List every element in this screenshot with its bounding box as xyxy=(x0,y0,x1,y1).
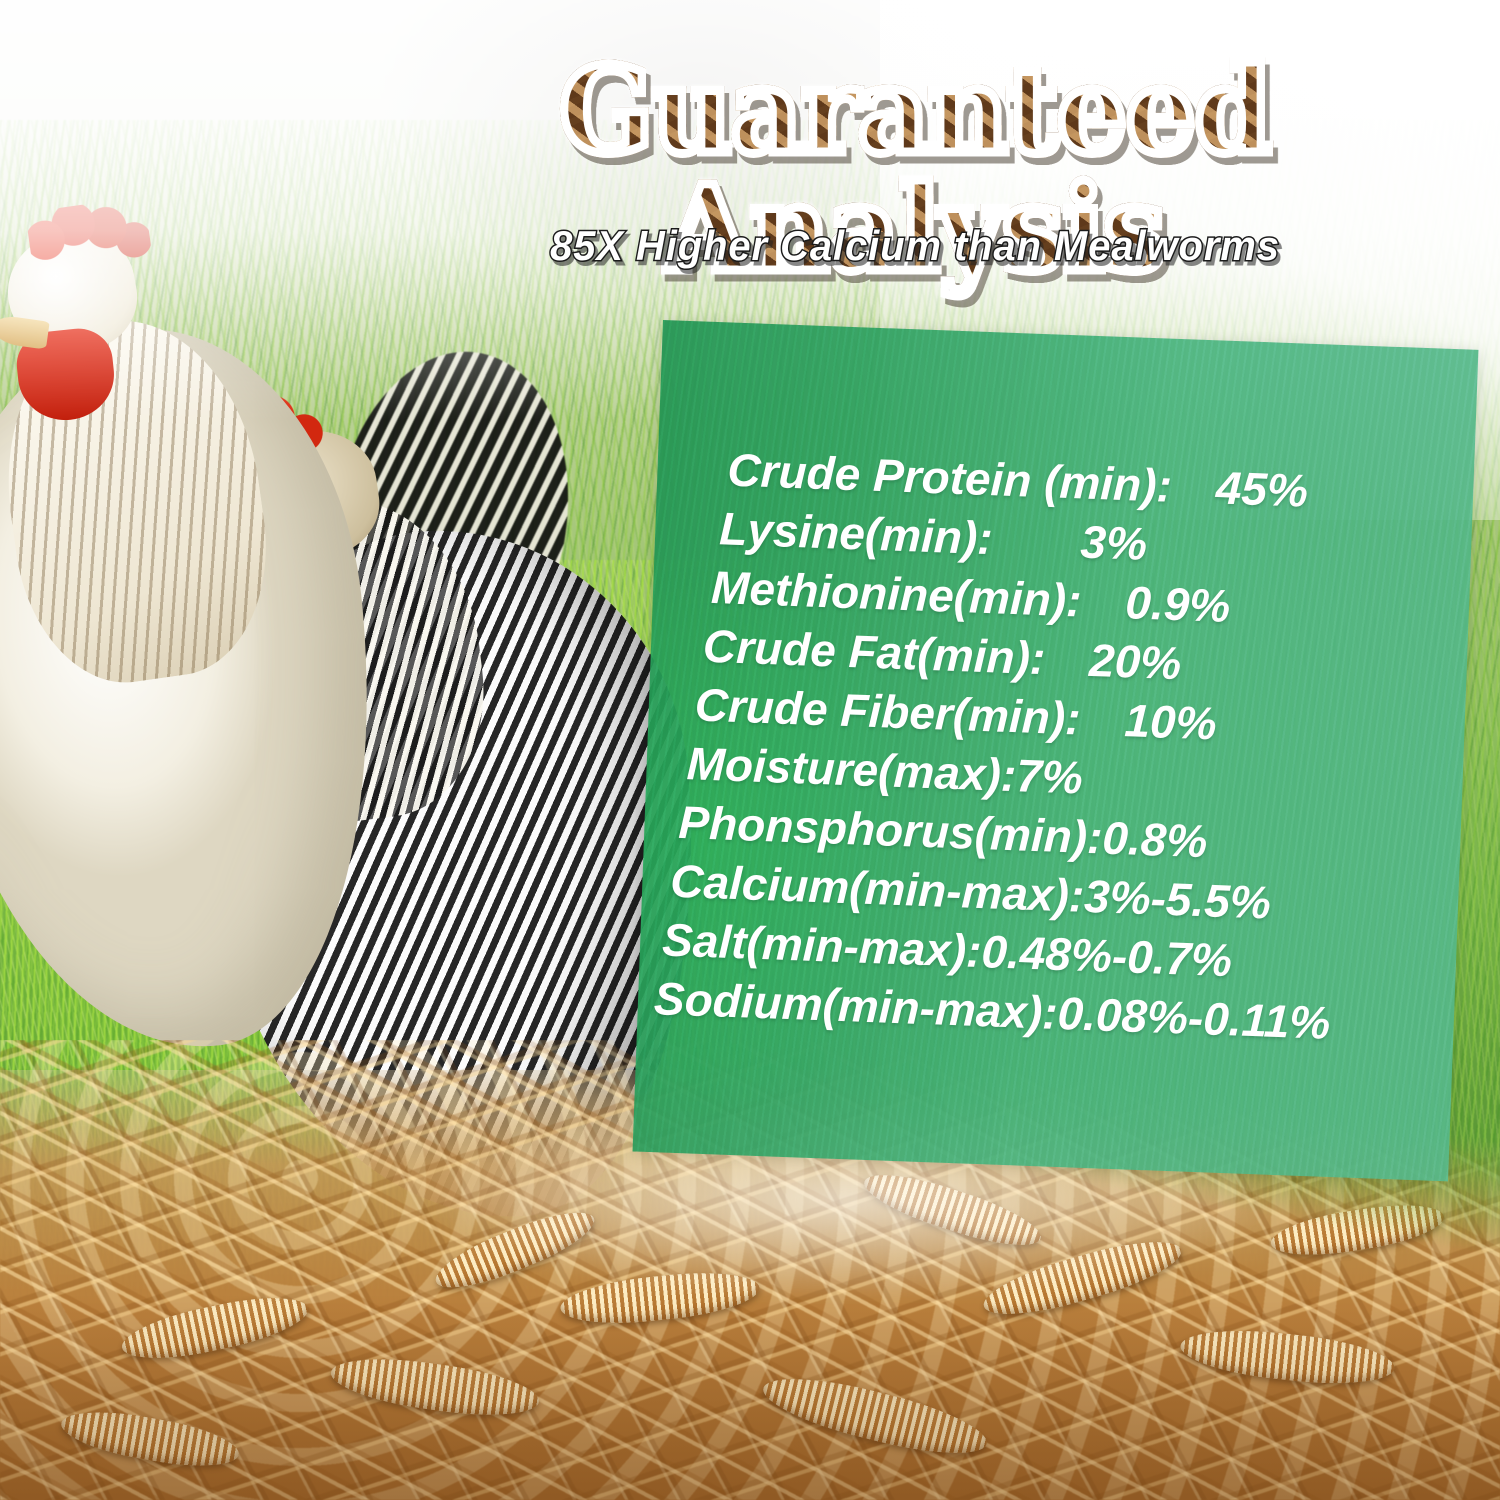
analysis-value: 7% xyxy=(1015,749,1083,803)
analysis-value: 45% xyxy=(1215,461,1309,516)
analysis-label: Sodium(min-max): xyxy=(653,972,1058,1039)
analysis-value: 0.9% xyxy=(1125,576,1232,632)
analysis-label: Moisture(max): xyxy=(686,737,1017,801)
page-subtitle: 85X Higher Calcium than Mealworms xyxy=(369,222,1462,270)
analysis-label: Salt(min-max): xyxy=(661,913,982,977)
product-infographic: Guaranteed Analysis 85X Higher Calcium t… xyxy=(0,0,1500,1500)
analysis-label: Methionine(min): xyxy=(710,561,1082,627)
title-block: Guaranteed Analysis xyxy=(340,52,1490,192)
analysis-label: Crude Fat(min): xyxy=(702,620,1046,685)
analysis-value: 3%-5.5% xyxy=(1083,870,1271,929)
analysis-value: 20% xyxy=(1088,634,1182,689)
analysis-label: Lysine(min): xyxy=(718,502,993,564)
analysis-label: Crude Fiber(min): xyxy=(694,678,1082,744)
analysis-list: Crude Protein (min):45% Lysine(min):3% M… xyxy=(693,440,1460,1057)
analysis-label: Calcium(min-max): xyxy=(670,855,1086,922)
guaranteed-analysis-panel: Crude Protein (min):45% Lysine(min):3% M… xyxy=(633,320,1479,1181)
analysis-value: 10% xyxy=(1124,694,1218,749)
analysis-value: 0.8% xyxy=(1102,811,1209,867)
analysis-value: 0.08%-0.11% xyxy=(1057,987,1331,1049)
analysis-value: 3% xyxy=(1080,515,1148,569)
analysis-value: 0.48%-0.7% xyxy=(981,925,1233,986)
